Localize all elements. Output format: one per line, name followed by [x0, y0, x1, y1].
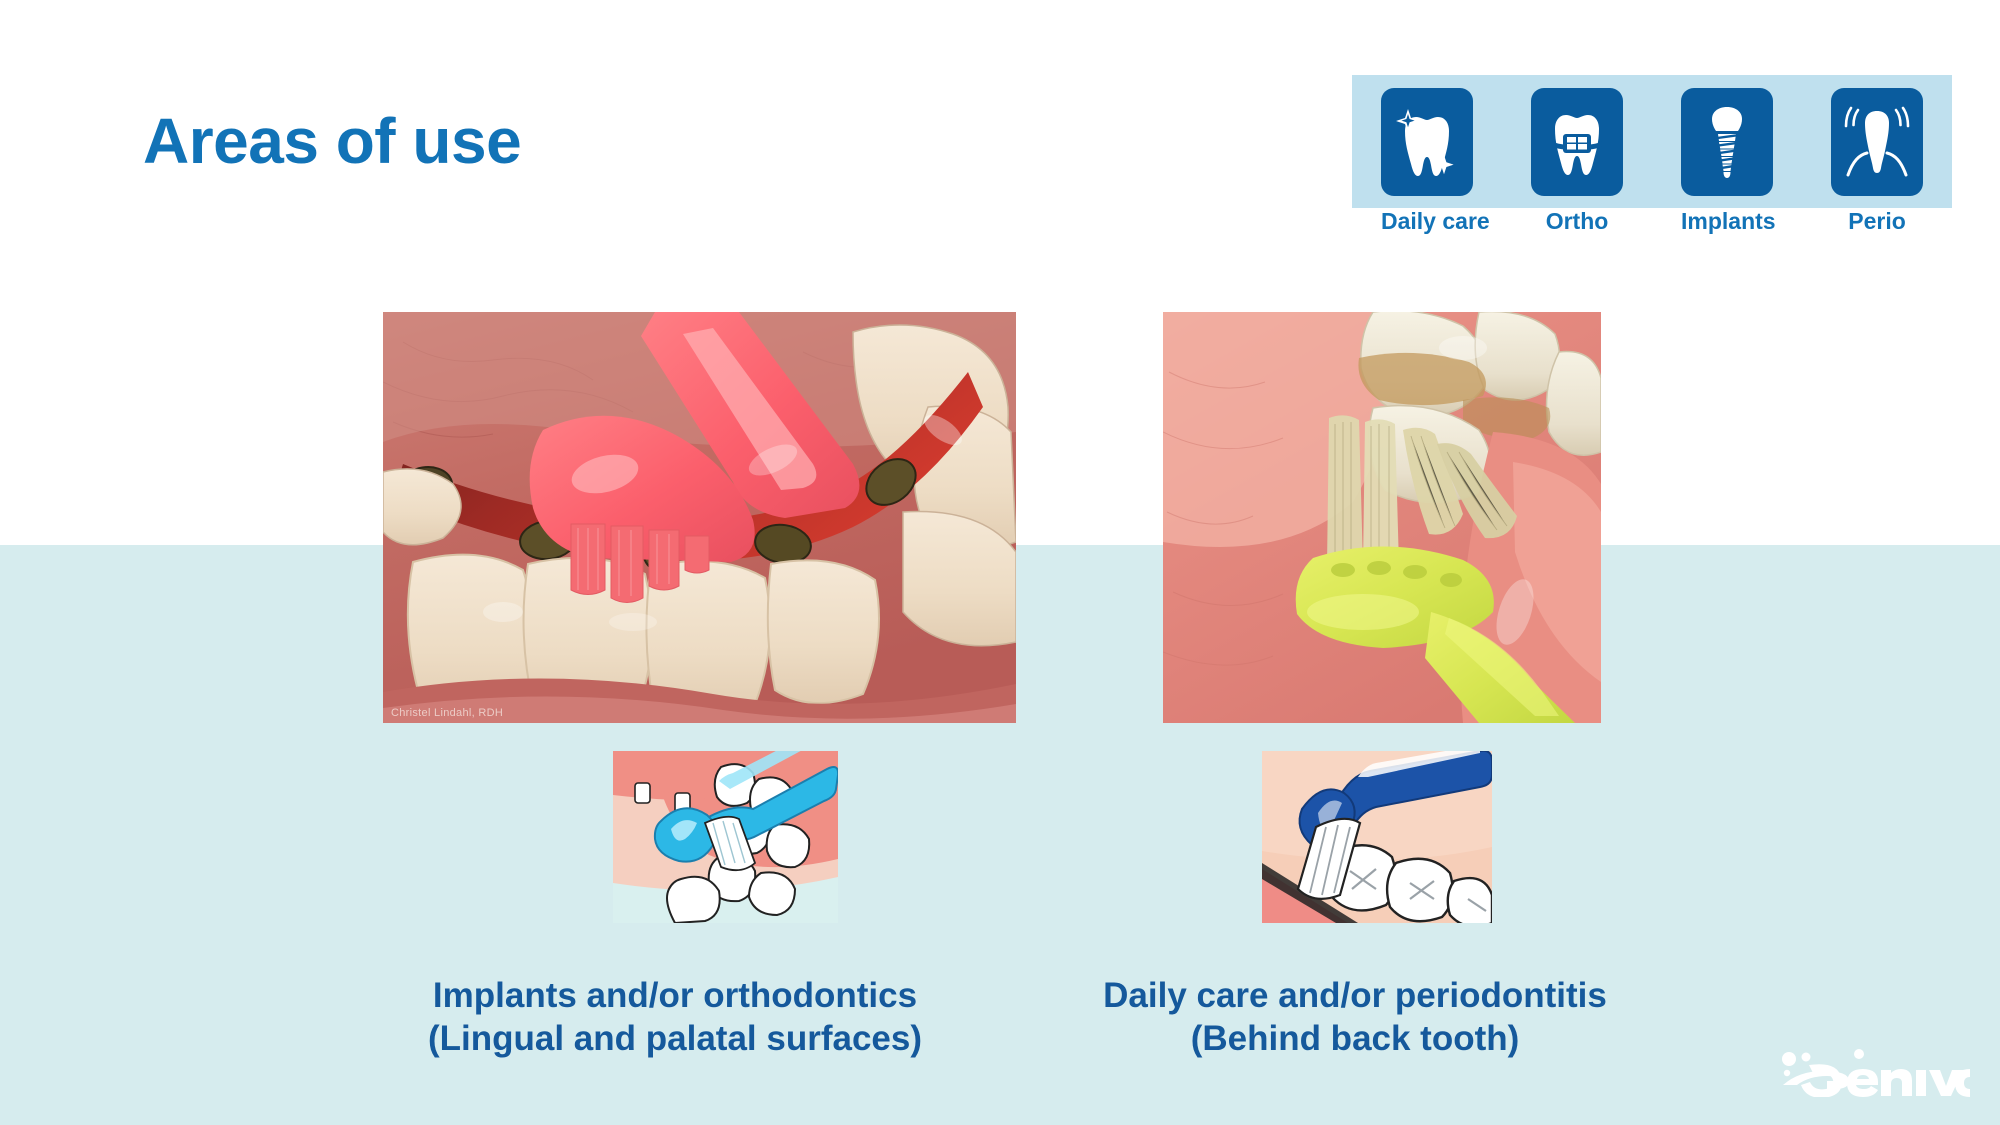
- photo-left-graphic: [383, 312, 1016, 723]
- caption-left-line1: Implants and/or orthodontics: [330, 975, 1020, 1018]
- clinical-photo-implant-bar-brushing: Christel Lindahl, RDH: [383, 312, 1016, 723]
- page-title: Areas of use: [143, 108, 521, 175]
- deniva-logo-graphic: [1775, 1045, 1970, 1097]
- icon-label-perio: Perio: [1831, 208, 1923, 235]
- tooth-sparkle-icon: [1394, 103, 1460, 181]
- photo-right-graphic: [1163, 312, 1601, 723]
- icon-label-ortho: Ortho: [1531, 208, 1623, 235]
- dental-implant-icon: [1694, 103, 1760, 181]
- icon-label-daily-care: Daily care: [1381, 208, 1473, 235]
- tooth-gums-icon: [1844, 103, 1910, 181]
- caption-left: Implants and/or orthodontics (Lingual an…: [330, 975, 1020, 1060]
- illustration-left-graphic: [613, 751, 838, 923]
- illustration-right-graphic: [1262, 751, 1492, 923]
- icon-label-group: Daily care Ortho Implants Perio: [1352, 208, 1952, 242]
- caption-left-line2: (Lingual and palatal surfaces): [330, 1018, 1020, 1061]
- icon-tile-perio[interactable]: [1831, 88, 1923, 196]
- deniva-logo: [1775, 1045, 1970, 1097]
- icon-tile-ortho[interactable]: [1531, 88, 1623, 196]
- illustration-lingual-brushing: [613, 751, 838, 923]
- icon-label-implants: Implants: [1681, 208, 1773, 235]
- photo-credit: Christel Lindahl, RDH: [391, 707, 503, 719]
- illustration-behind-back-tooth: [1262, 751, 1492, 923]
- slide-root: Areas of use: [0, 0, 2000, 1125]
- caption-right-line2: (Behind back tooth): [1010, 1018, 1700, 1061]
- icon-tile-implants[interactable]: [1681, 88, 1773, 196]
- tooth-braces-icon: [1544, 103, 1610, 181]
- icon-tile-daily-care[interactable]: [1381, 88, 1473, 196]
- caption-right: Daily care and/or periodontitis (Behind …: [1010, 975, 1700, 1060]
- clinical-photo-behind-back-tooth-brushing: [1163, 312, 1601, 723]
- icon-tile-group: [1352, 75, 1952, 208]
- caption-right-line1: Daily care and/or periodontitis: [1010, 975, 1700, 1018]
